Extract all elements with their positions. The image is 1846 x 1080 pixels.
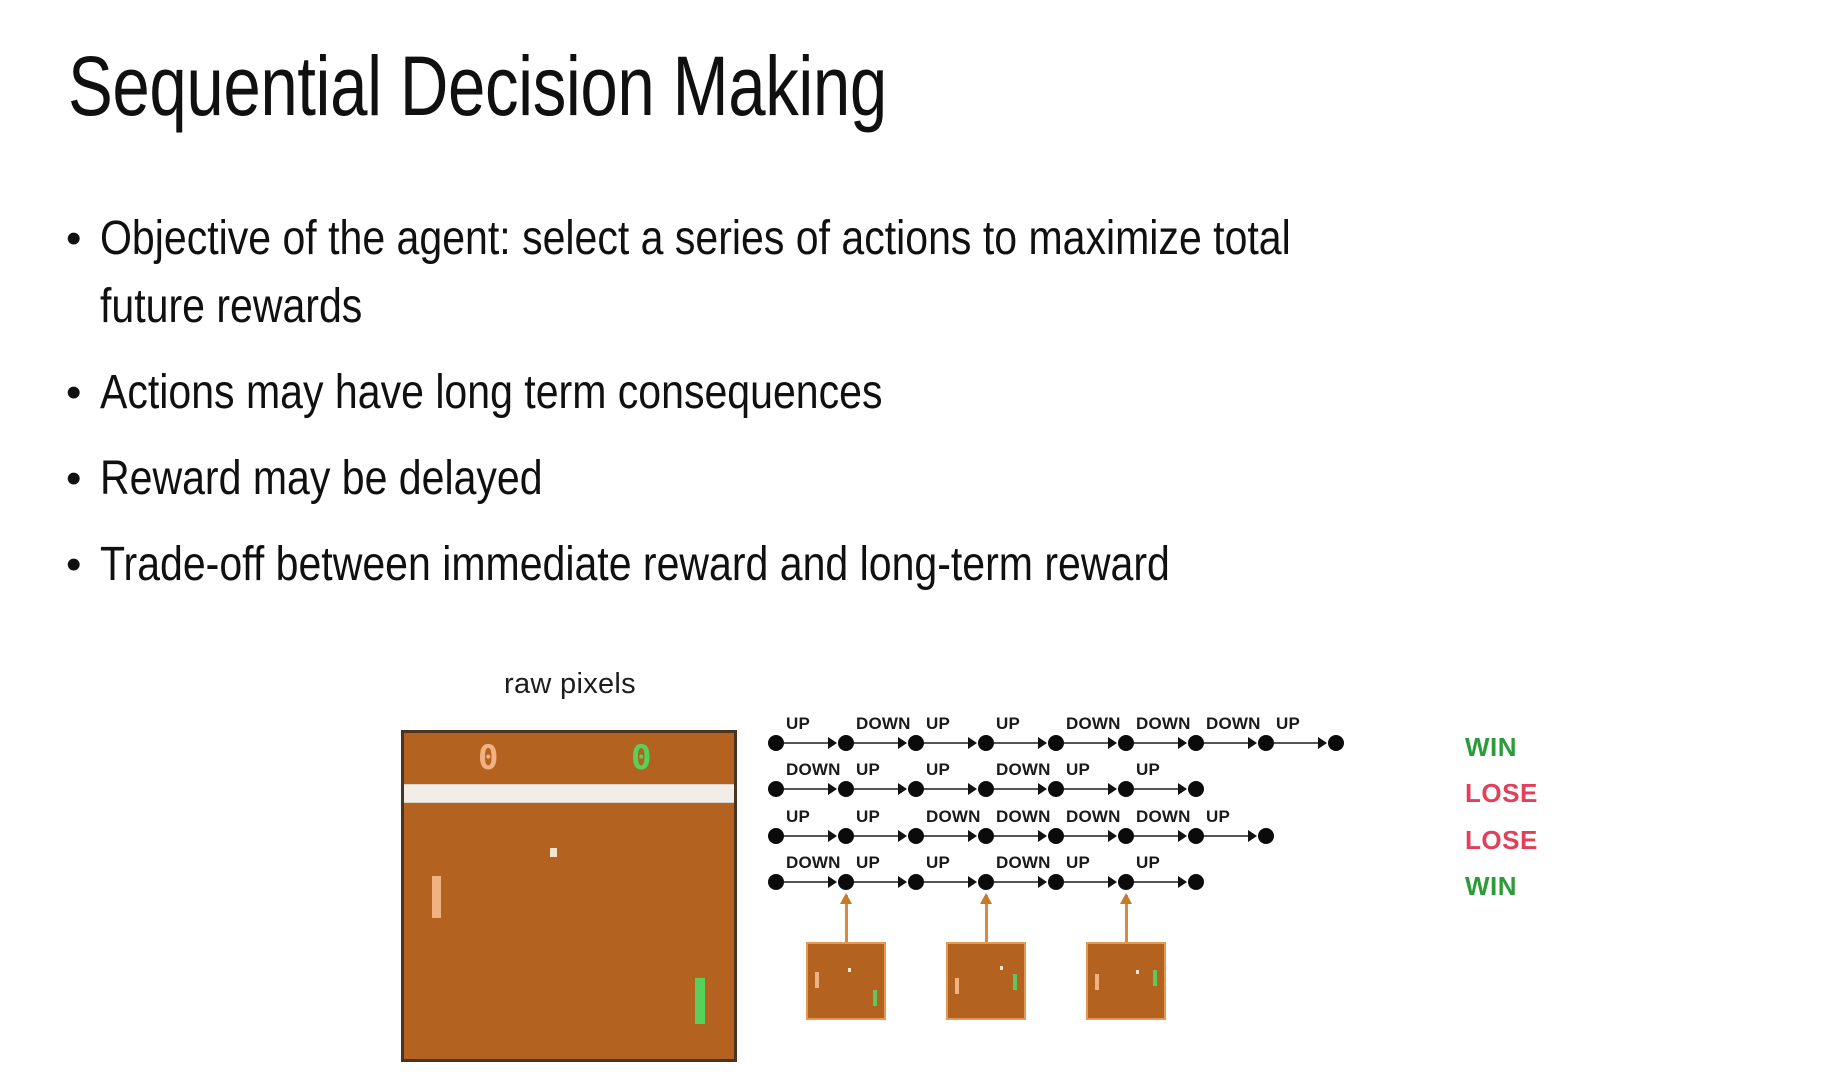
trajectory-state-node bbox=[838, 781, 854, 797]
arrow-head-icon bbox=[968, 783, 977, 795]
arrow-head-icon bbox=[898, 876, 907, 888]
arrow-head-icon bbox=[1108, 830, 1117, 842]
thumbnail-ball bbox=[1136, 970, 1139, 974]
action-label: DOWN bbox=[996, 808, 1051, 826]
bullet-item-1: • Objective of the agent: select a serie… bbox=[66, 205, 1826, 341]
thumbnail-pointer-arrow-icon bbox=[840, 893, 852, 904]
action-label: UP bbox=[1066, 854, 1090, 872]
trajectory-edge bbox=[924, 881, 969, 883]
arrow-head-icon bbox=[1178, 876, 1187, 888]
thumbnail-paddle-right bbox=[1013, 974, 1017, 990]
action-label: DOWN bbox=[786, 854, 841, 872]
arrow-head-icon bbox=[968, 876, 977, 888]
action-label: UP bbox=[856, 761, 880, 779]
arrow-head-icon bbox=[1318, 737, 1327, 749]
action-label: DOWN bbox=[926, 808, 981, 826]
thumbnail-ball bbox=[1000, 966, 1003, 970]
pong-state-thumbnail bbox=[1086, 942, 1166, 1020]
arrow-head-icon bbox=[1178, 783, 1187, 795]
action-label: UP bbox=[1206, 808, 1230, 826]
thumbnail-paddle-right bbox=[873, 990, 877, 1006]
outcome-label-win: WIN bbox=[1465, 732, 1517, 762]
trajectory-state-node bbox=[1188, 828, 1204, 844]
bullet-marker-icon: • bbox=[66, 531, 100, 599]
trajectory-edge bbox=[784, 742, 829, 744]
trajectory-edge bbox=[1064, 788, 1109, 790]
trajectory-state-node bbox=[1188, 874, 1204, 890]
trajectory-state-node bbox=[1118, 828, 1134, 844]
arrow-head-icon bbox=[1178, 737, 1187, 749]
trajectory-edge bbox=[784, 788, 829, 790]
thumbnail-paddle-left bbox=[1095, 974, 1099, 990]
trajectory-edge bbox=[924, 742, 969, 744]
trajectory-state-node bbox=[978, 874, 994, 890]
trajectory-edge bbox=[1204, 742, 1249, 744]
trajectory-edge bbox=[1134, 742, 1179, 744]
action-label: DOWN bbox=[1066, 715, 1121, 733]
bullet-text-2: Actions may have long term consequences bbox=[100, 359, 1576, 427]
action-label: UP bbox=[996, 715, 1020, 733]
trajectory-edge bbox=[784, 835, 829, 837]
bullet-marker-icon: • bbox=[66, 205, 100, 273]
action-label: DOWN bbox=[996, 761, 1051, 779]
trajectory-state-node bbox=[978, 781, 994, 797]
action-label: DOWN bbox=[1206, 715, 1261, 733]
arrow-head-icon bbox=[1108, 783, 1117, 795]
thumbnail-pointer-arrow-icon bbox=[1120, 893, 1132, 904]
trajectory-state-node bbox=[1188, 735, 1204, 751]
trajectory-edge bbox=[1064, 881, 1109, 883]
arrow-head-icon bbox=[828, 737, 837, 749]
outcome-label-win: WIN bbox=[1465, 871, 1517, 901]
arrow-head-icon bbox=[1248, 737, 1257, 749]
thumbnail-pointer-arrow-icon bbox=[980, 893, 992, 904]
trajectory-state-node bbox=[768, 735, 784, 751]
trajectory-state-node bbox=[978, 828, 994, 844]
trajectory-state-node bbox=[1328, 735, 1344, 751]
action-label: UP bbox=[1136, 854, 1160, 872]
trajectory-state-node bbox=[1048, 781, 1064, 797]
action-label: DOWN bbox=[1136, 808, 1191, 826]
action-label: UP bbox=[786, 715, 810, 733]
trajectory-edge bbox=[994, 788, 1039, 790]
trajectory-edge bbox=[1274, 742, 1319, 744]
action-label: DOWN bbox=[1066, 808, 1121, 826]
arrow-head-icon bbox=[1038, 737, 1047, 749]
trajectory-edge bbox=[994, 835, 1039, 837]
bullet-text-1: Objective of the agent: select a series … bbox=[100, 205, 1576, 341]
trajectory-state-node bbox=[908, 735, 924, 751]
trajectory-edge bbox=[1204, 835, 1249, 837]
action-label: UP bbox=[926, 761, 950, 779]
pong-game-screenshot: 0 0 bbox=[401, 730, 737, 1062]
trajectory-state-node bbox=[1258, 828, 1274, 844]
pong-ball bbox=[550, 848, 557, 857]
pong-state-thumbnail bbox=[946, 942, 1026, 1020]
arrow-head-icon bbox=[1108, 737, 1117, 749]
raw-pixels-caption: raw pixels bbox=[400, 667, 740, 701]
pong-paddle-left bbox=[432, 876, 441, 918]
action-label: UP bbox=[926, 715, 950, 733]
bullet-marker-icon: • bbox=[66, 445, 100, 513]
pong-paddle-right bbox=[695, 978, 705, 1024]
trajectory-edge bbox=[784, 881, 829, 883]
trajectory-edge bbox=[854, 788, 899, 790]
outcome-label-lose: LOSE bbox=[1465, 778, 1538, 808]
trajectory-state-node bbox=[838, 735, 854, 751]
trajectory-state-node bbox=[908, 781, 924, 797]
bullet-item-4: • Trade-off between immediate reward and… bbox=[66, 531, 1826, 599]
action-label: UP bbox=[1066, 761, 1090, 779]
arrow-head-icon bbox=[1178, 830, 1187, 842]
trajectory-state-node bbox=[838, 828, 854, 844]
trajectory-state-node bbox=[768, 781, 784, 797]
arrow-head-icon bbox=[968, 830, 977, 842]
arrow-head-icon bbox=[898, 783, 907, 795]
arrow-head-icon bbox=[968, 737, 977, 749]
trajectory-edge bbox=[1134, 788, 1179, 790]
arrow-head-icon bbox=[1038, 783, 1047, 795]
trajectory-edge bbox=[1064, 835, 1109, 837]
action-label: UP bbox=[1276, 715, 1300, 733]
action-label: UP bbox=[856, 808, 880, 826]
action-label: UP bbox=[1136, 761, 1160, 779]
action-label: DOWN bbox=[1136, 715, 1191, 733]
arrow-head-icon bbox=[898, 830, 907, 842]
trajectory-state-node bbox=[908, 874, 924, 890]
trajectory-state-node bbox=[1258, 735, 1274, 751]
trajectory-edge bbox=[1134, 835, 1179, 837]
action-label: DOWN bbox=[786, 761, 841, 779]
trajectory-edge bbox=[994, 742, 1039, 744]
action-label: UP bbox=[926, 854, 950, 872]
trajectory-edge bbox=[1134, 881, 1179, 883]
trajectory-state-node bbox=[768, 874, 784, 890]
trajectory-state-node bbox=[1048, 874, 1064, 890]
trajectory-edge bbox=[924, 788, 969, 790]
trajectory-edge bbox=[854, 742, 899, 744]
thumbnail-paddle-left bbox=[815, 972, 819, 988]
arrow-head-icon bbox=[1038, 830, 1047, 842]
action-label: DOWN bbox=[996, 854, 1051, 872]
trajectory-edge bbox=[854, 835, 899, 837]
outcome-label-lose: LOSE bbox=[1465, 825, 1538, 855]
arrow-head-icon bbox=[1038, 876, 1047, 888]
trajectory-state-node bbox=[768, 828, 784, 844]
trajectory-edge bbox=[854, 881, 899, 883]
thumbnail-paddle-right bbox=[1153, 970, 1157, 986]
figure-sequential-decision: raw pixels 0 0 UPDOWNUPUPDOWNDOWNDOWNUPW… bbox=[0, 645, 1846, 1080]
pong-score-right: 0 bbox=[631, 741, 651, 775]
action-label: UP bbox=[786, 808, 810, 826]
trajectory-state-node bbox=[1188, 781, 1204, 797]
page-title: Sequential Decision Making bbox=[68, 38, 887, 134]
thumbnail-ball bbox=[848, 968, 851, 972]
trajectory-state-node bbox=[1048, 828, 1064, 844]
trajectory-diagram: UPDOWNUPUPDOWNDOWNDOWNUPWINDOWNUPUPDOWNU… bbox=[760, 645, 1660, 1080]
arrow-head-icon bbox=[828, 783, 837, 795]
pong-divider-bar bbox=[404, 784, 734, 803]
arrow-head-icon bbox=[1108, 876, 1117, 888]
trajectory-state-node bbox=[1118, 874, 1134, 890]
trajectory-state-node bbox=[1118, 781, 1134, 797]
trajectory-state-node bbox=[908, 828, 924, 844]
bullet-text-4: Trade-off between immediate reward and l… bbox=[100, 531, 1576, 599]
trajectory-edge bbox=[924, 835, 969, 837]
bullet-item-2: • Actions may have long term consequence… bbox=[66, 359, 1826, 427]
trajectory-state-node bbox=[1048, 735, 1064, 751]
arrow-head-icon bbox=[828, 876, 837, 888]
arrow-head-icon bbox=[828, 830, 837, 842]
pong-state-thumbnail bbox=[806, 942, 886, 1020]
action-label: UP bbox=[856, 854, 880, 872]
trajectory-state-node bbox=[838, 874, 854, 890]
pong-score-left: 0 bbox=[478, 741, 498, 775]
trajectory-edge bbox=[1064, 742, 1109, 744]
bullet-text-3: Reward may be delayed bbox=[100, 445, 1576, 513]
bullet-list: • Objective of the agent: select a serie… bbox=[66, 205, 1826, 617]
trajectory-edge bbox=[994, 881, 1039, 883]
arrow-head-icon bbox=[1248, 830, 1257, 842]
bullet-item-3: • Reward may be delayed bbox=[66, 445, 1826, 513]
action-label: DOWN bbox=[856, 715, 911, 733]
trajectory-state-node bbox=[978, 735, 994, 751]
thumbnail-paddle-left bbox=[955, 978, 959, 994]
trajectory-state-node bbox=[1118, 735, 1134, 751]
bullet-marker-icon: • bbox=[66, 359, 100, 427]
arrow-head-icon bbox=[898, 737, 907, 749]
